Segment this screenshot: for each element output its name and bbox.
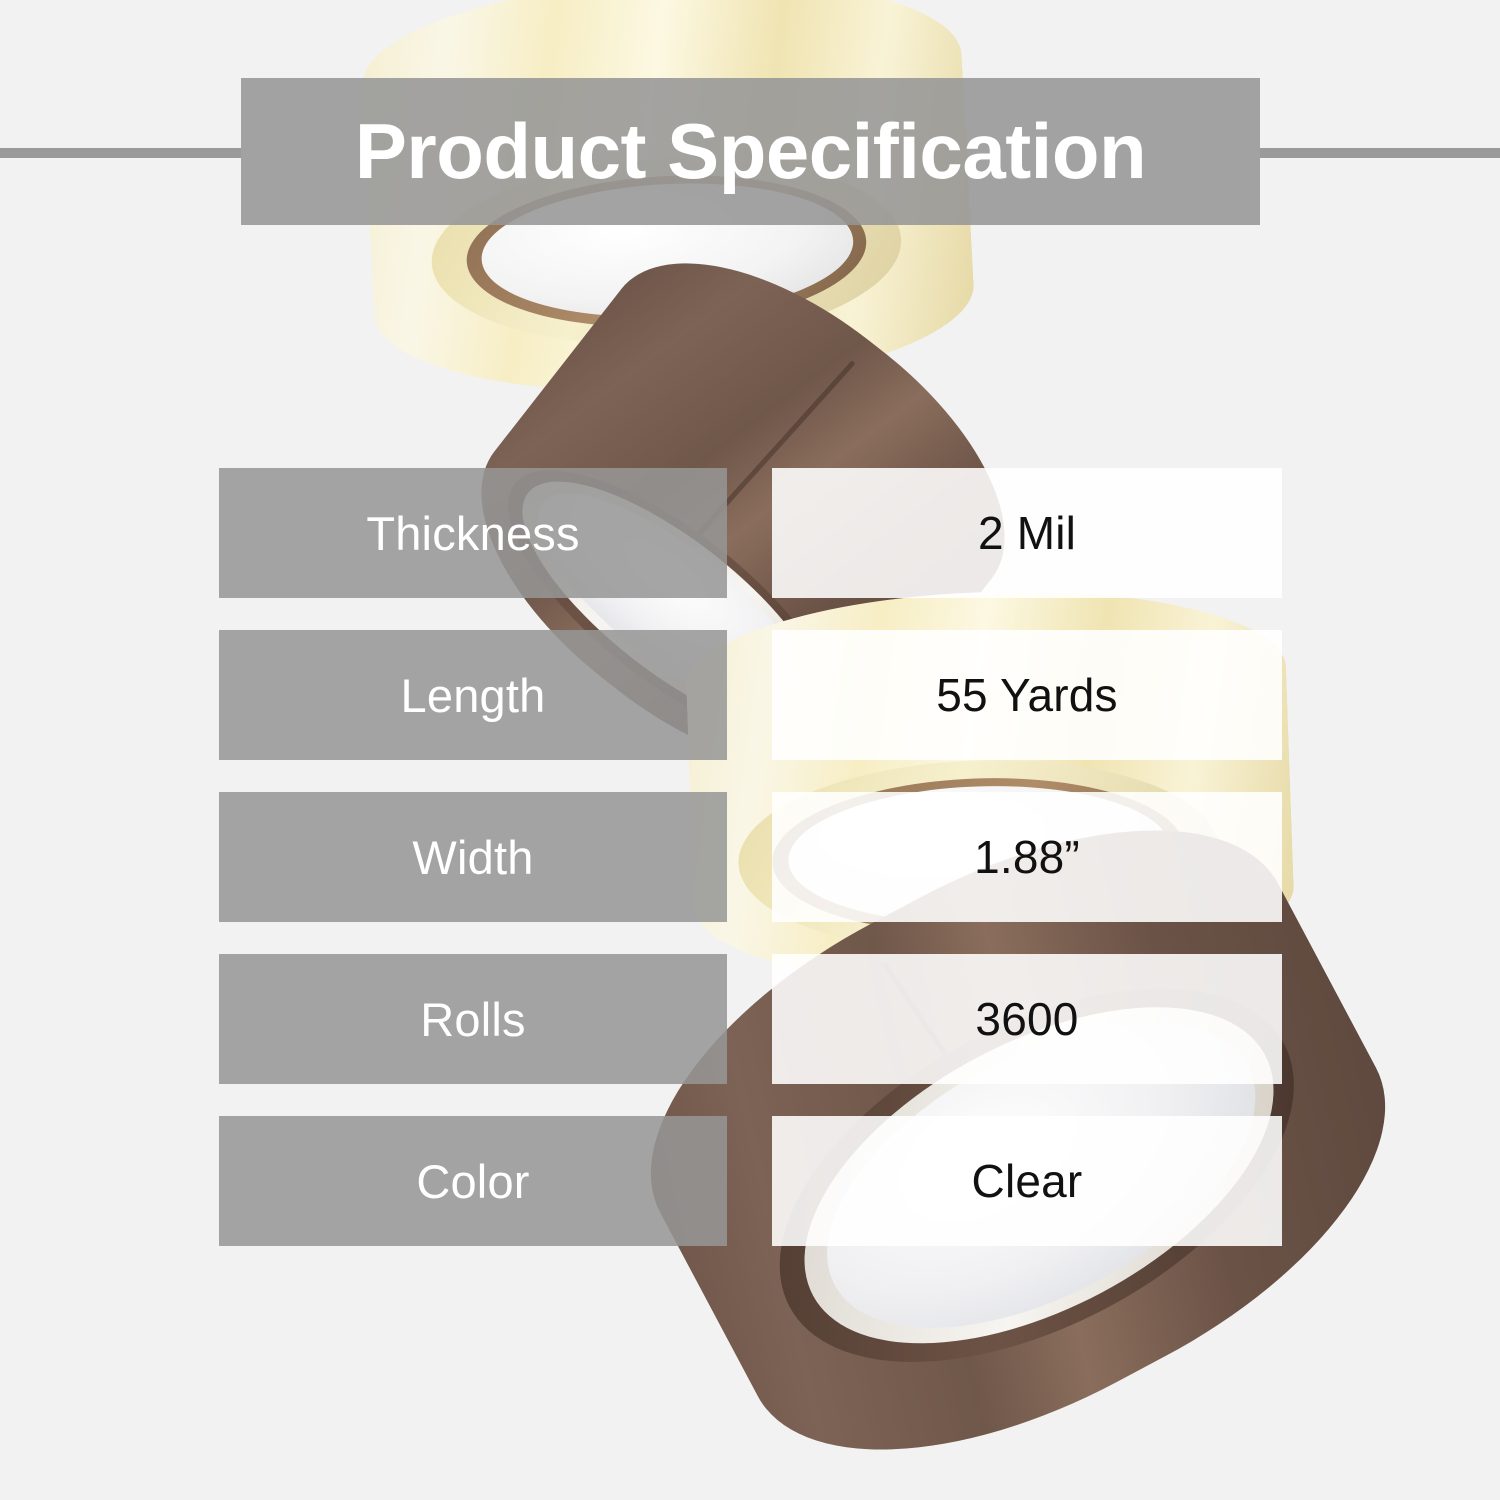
spec-value-thickness: 2 Mil (772, 468, 1282, 598)
spec-label-color: Color (219, 1116, 727, 1246)
title-banner: Product Specification (241, 78, 1260, 225)
table-row: Length 55 Yards (219, 630, 1282, 760)
spec-value-text: 55 Yards (936, 668, 1117, 722)
spec-label-thickness: Thickness (219, 468, 727, 598)
spec-value-length: 55 Yards (772, 630, 1282, 760)
spec-value-text: 2 Mil (978, 506, 1076, 560)
specification-table: Thickness 2 Mil Length 55 Yards Width 1.… (219, 468, 1282, 1246)
spec-label-rolls: Rolls (219, 954, 727, 1084)
spec-value-rolls: 3600 (772, 954, 1282, 1084)
spec-value-text: Clear (972, 1154, 1083, 1208)
page-title: Product Specification (355, 106, 1146, 197)
table-row: Rolls 3600 (219, 954, 1282, 1084)
table-row: Thickness 2 Mil (219, 468, 1282, 598)
header-rule-right (1260, 148, 1500, 158)
spec-label-text: Rolls (420, 992, 525, 1047)
table-row: Color Clear (219, 1116, 1282, 1246)
product-specification-infographic: Product Specification Thickness 2 Mil Le… (0, 0, 1500, 1500)
spec-label-length: Length (219, 630, 727, 760)
table-row: Width 1.88” (219, 792, 1282, 922)
spec-value-text: 3600 (975, 992, 1078, 1046)
spec-label-width: Width (219, 792, 727, 922)
spec-value-text: 1.88” (974, 830, 1080, 884)
header-rule-left (0, 148, 241, 158)
spec-label-text: Width (412, 830, 533, 885)
spec-label-text: Color (416, 1154, 529, 1209)
spec-value-color: Clear (772, 1116, 1282, 1246)
spec-label-text: Thickness (366, 506, 579, 561)
spec-value-width: 1.88” (772, 792, 1282, 922)
spec-label-text: Length (401, 668, 546, 723)
